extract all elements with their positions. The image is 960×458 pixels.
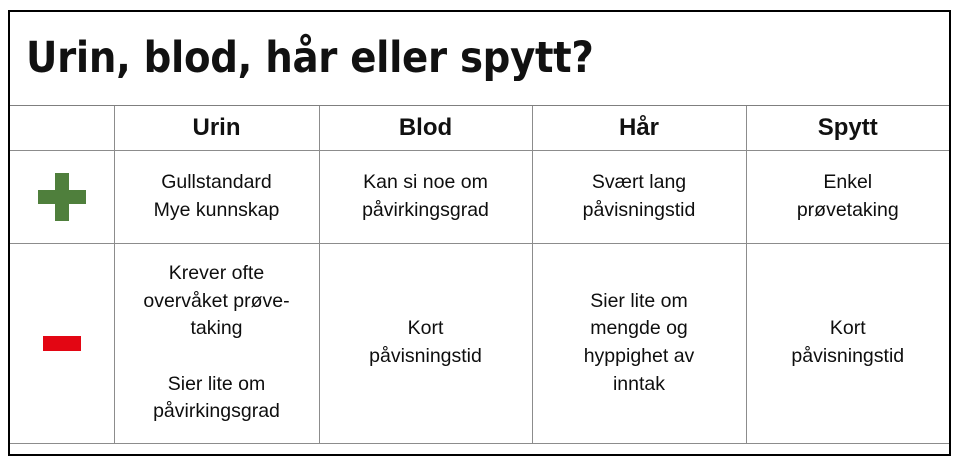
cell-positive-urin: Gullstandard Mye kunnskap xyxy=(114,150,319,243)
cell-positive-spytt: Enkel prøvetaking xyxy=(746,150,949,243)
page-title: Urin, blod, hår eller spytt? xyxy=(26,36,949,81)
sign-wrapper xyxy=(18,336,106,351)
column-header-spytt: Spytt xyxy=(746,105,949,150)
title-row: Urin, blod, hår eller spytt? xyxy=(10,12,949,105)
title-cell: Urin, blod, hår eller spytt? xyxy=(10,12,949,105)
cell-negative-blod: Kort påvisningstid xyxy=(319,243,532,443)
table-row: Gullstandard Mye kunnskap Kan si noe om … xyxy=(10,150,949,243)
cell-negative-har: Sier lite om mengde og hyppighet av innt… xyxy=(532,243,746,443)
row-sign-cell-positive xyxy=(10,150,114,243)
row-sign-cell-negative xyxy=(10,243,114,443)
table-row: Krever ofte overvåket prøve- taking Sier… xyxy=(10,243,949,443)
table-footer-strip xyxy=(10,443,949,455)
cell-negative-spytt: Kort påvisningstid xyxy=(746,243,949,443)
plus-icon xyxy=(38,173,86,221)
table-header-row: Urin Blod Hår Spytt xyxy=(10,105,949,150)
cell-negative-urin: Krever ofte overvåket prøve- taking Sier… xyxy=(114,243,319,443)
column-header-har: Hår xyxy=(532,105,746,150)
header-corner-cell xyxy=(10,105,114,150)
slide-canvas: Urin, blod, hår eller spytt? Urin Blod H… xyxy=(0,0,960,458)
comparison-table: Urin, blod, hår eller spytt? Urin Blod H… xyxy=(10,12,949,455)
footer-spacer-cell xyxy=(10,443,949,455)
minus-icon xyxy=(43,336,81,351)
comparison-table-frame: Urin, blod, hår eller spytt? Urin Blod H… xyxy=(8,10,951,456)
cell-positive-har: Svært lang påvisningstid xyxy=(532,150,746,243)
sign-wrapper xyxy=(18,173,106,221)
column-header-urin: Urin xyxy=(114,105,319,150)
plus-icon-vertical-bar xyxy=(55,173,69,221)
cell-positive-blod: Kan si noe om påvirkingsgrad xyxy=(319,150,532,243)
column-header-blod: Blod xyxy=(319,105,532,150)
